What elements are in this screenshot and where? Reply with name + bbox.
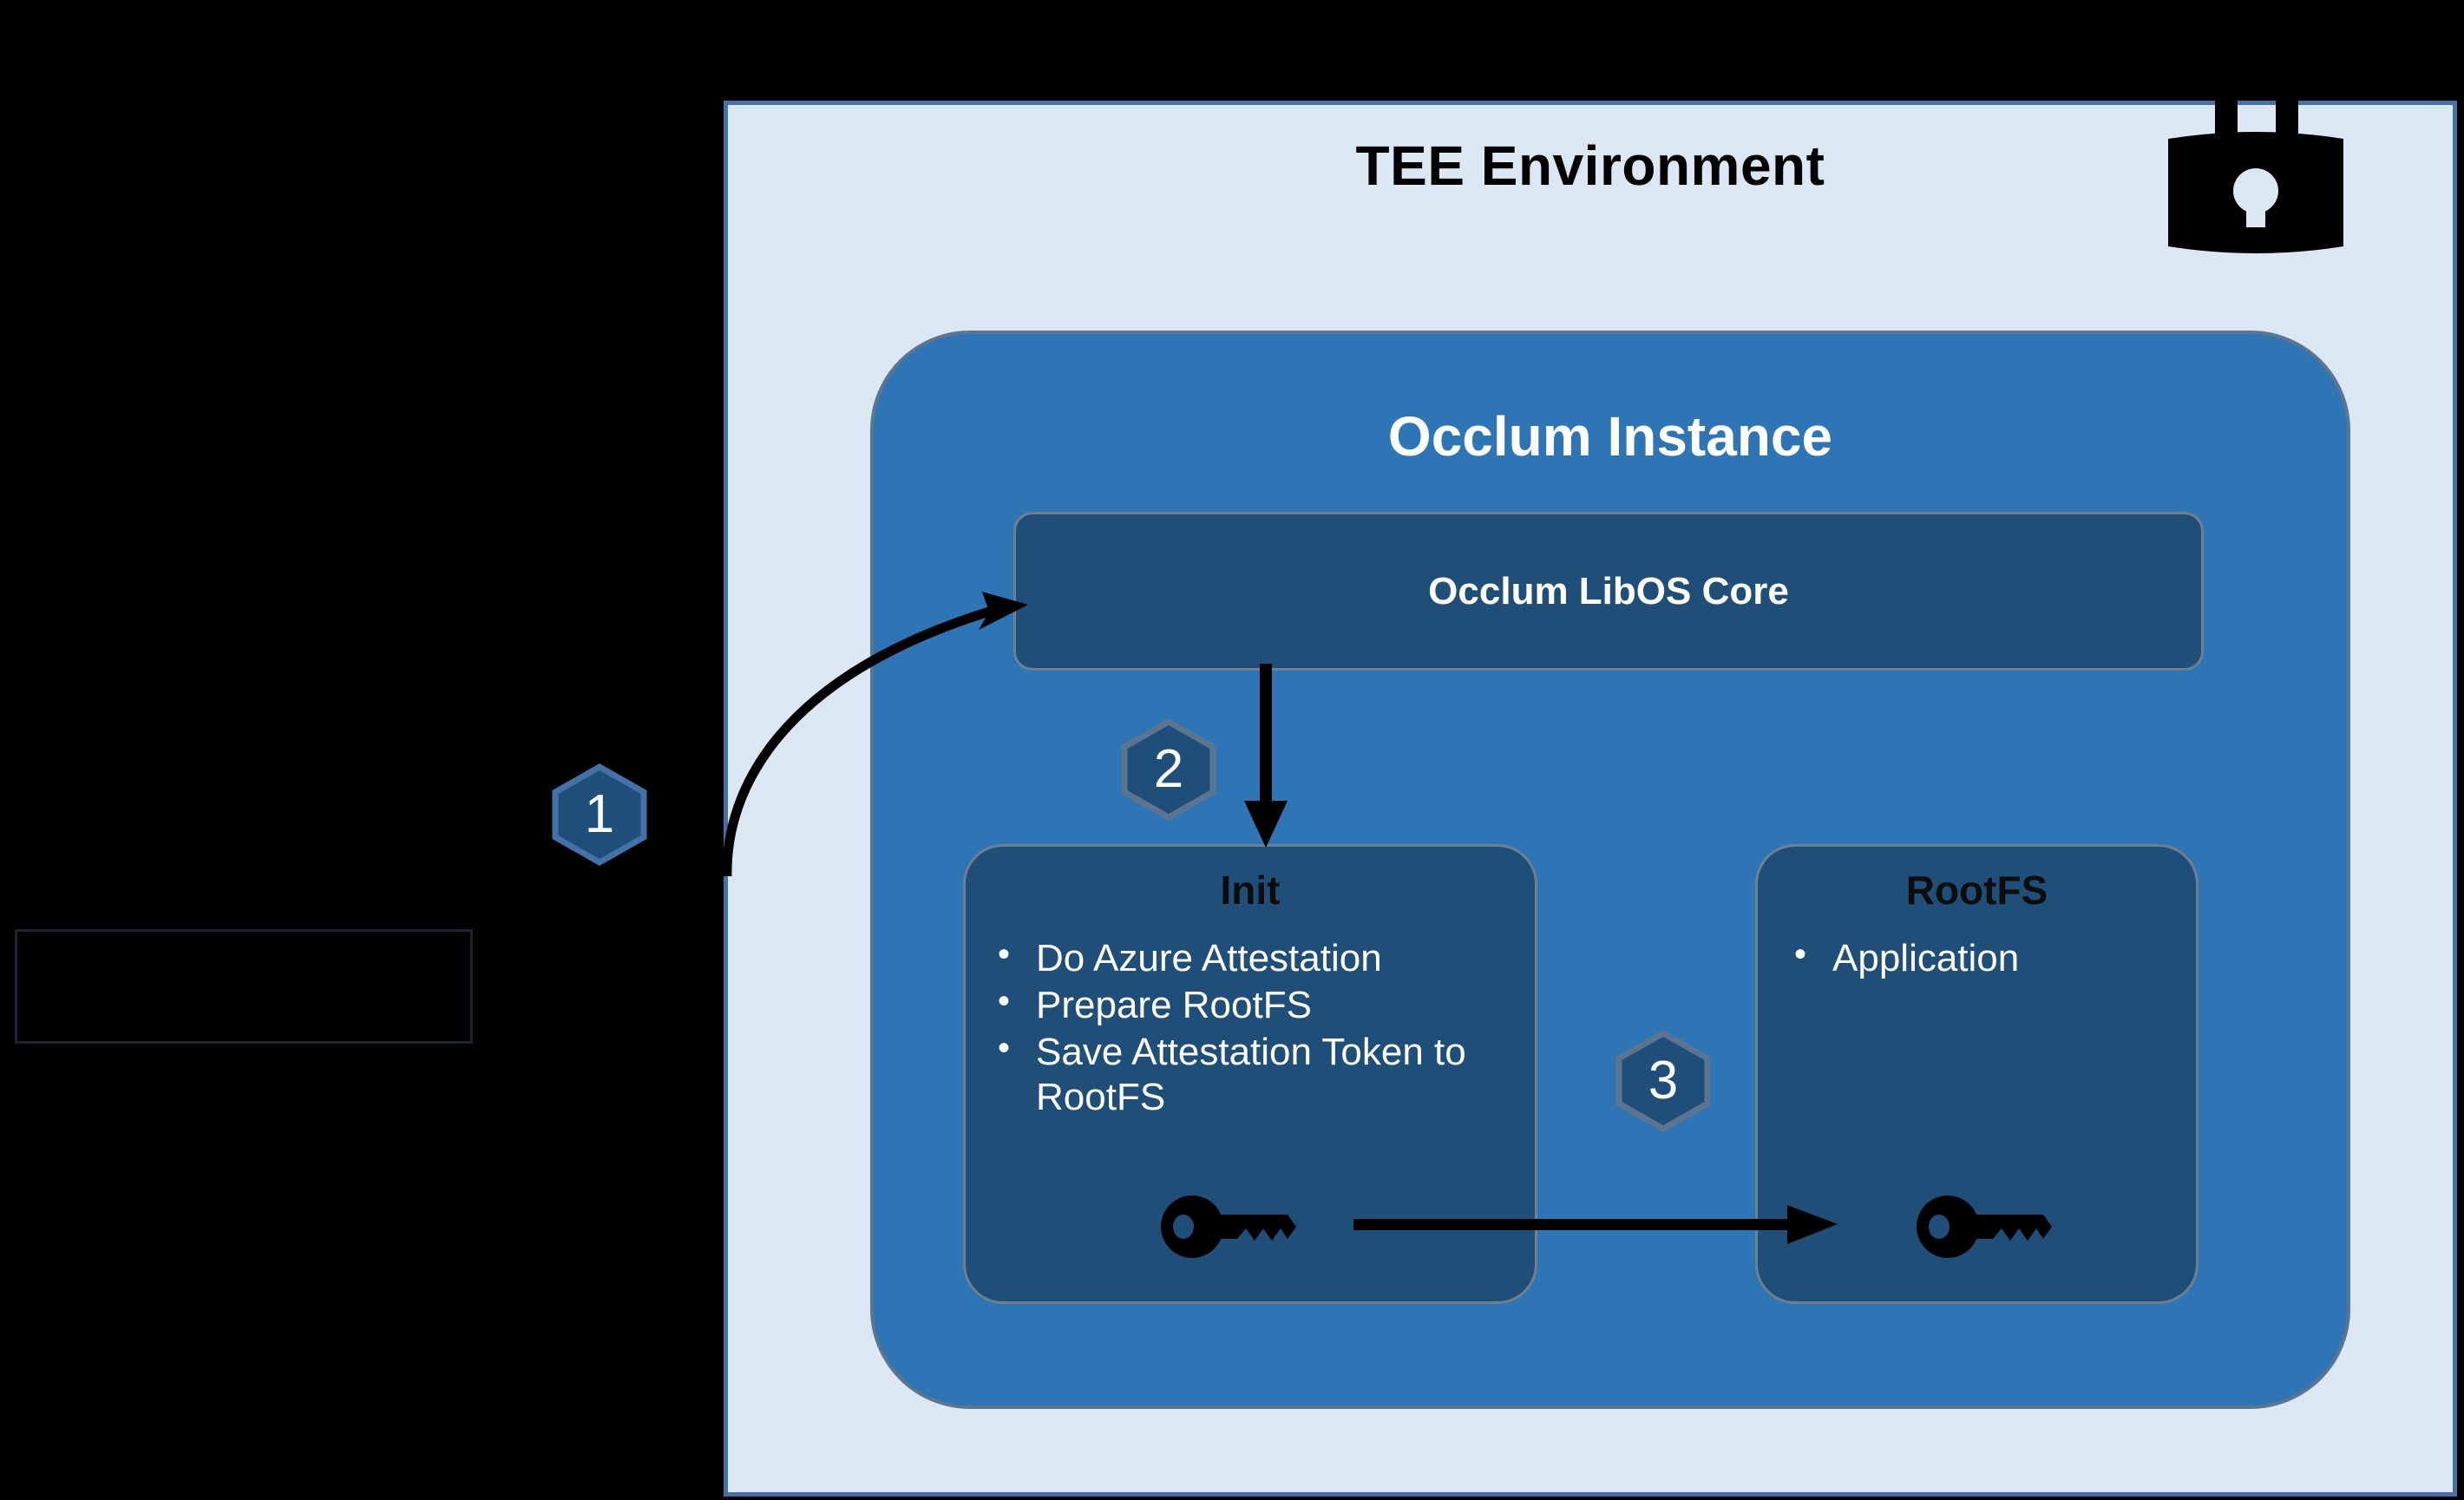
occlum-instance-title: Occlum Instance [874,404,2347,468]
list-item: Prepare RootFS [987,983,1508,1028]
rootfs-bullet-list: Application [1784,936,2174,981]
padlock-icon [2165,94,2347,254]
list-item: Save Attestation Token to RootFS [987,1030,1508,1120]
diagram-canvas: TEE Environment Occlum Instance Occlum L… [0,0,2464,1500]
occlum-libos-core-box: Occlum LibOS Core [1013,512,2204,671]
init-bullet-list: Do Azure Attestation Prepare RootFS Save… [987,936,1508,1122]
step-badge-2: 2 [1117,718,1220,821]
list-item: Do Azure Attestation [987,936,1508,981]
step-badge-3: 3 [1612,1030,1714,1132]
list-item: Application [1784,936,2174,981]
step-badge-1: 1 [548,763,651,866]
step-badge-1-label: 1 [548,763,651,866]
rootfs-title: RootFS [1758,867,2196,914]
init-title: Init [966,867,1535,914]
key-icon [1917,1195,2069,1258]
key-icon [1161,1195,1314,1258]
left-placeholder-box [15,929,473,1044]
step-badge-3-label: 3 [1612,1030,1714,1132]
occlum-libos-core-label: Occlum LibOS Core [1428,570,1789,613]
step-badge-2-label: 2 [1117,718,1220,821]
